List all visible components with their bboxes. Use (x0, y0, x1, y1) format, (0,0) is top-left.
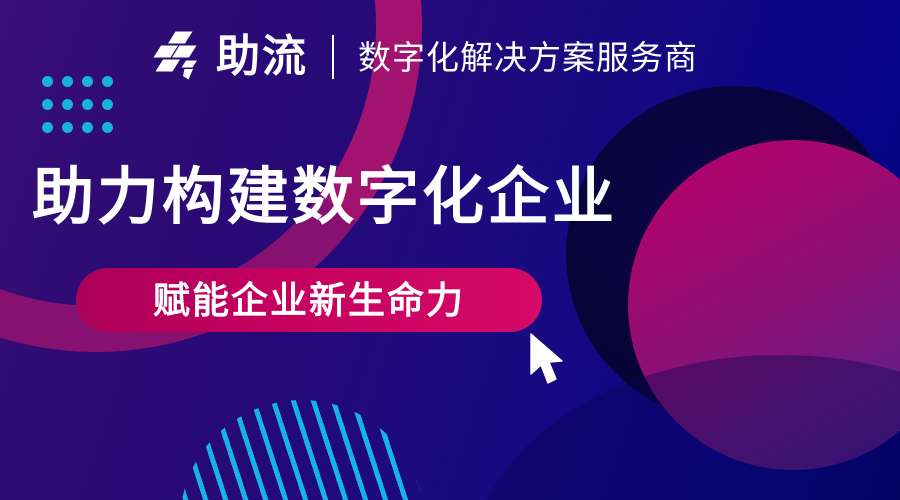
brand-header: 助流 数字化解决方案服务商 (150, 26, 698, 88)
magenta-circle-decoration (628, 140, 900, 470)
dot (102, 99, 113, 110)
dot (62, 99, 73, 110)
dot (102, 122, 113, 133)
dot (42, 99, 53, 110)
brand-tagline: 数字化解决方案服务商 (358, 41, 698, 74)
brand-name: 助流 (216, 35, 308, 79)
cyan-striped-circle-decoration (180, 400, 424, 500)
marketing-banner: 助流 数字化解决方案服务商 助力构建数字化企业 赋能企业新生命力 (0, 0, 900, 500)
dot (82, 99, 93, 110)
dot (62, 76, 73, 87)
tagline-pill-label: 赋能企业新生命力 (153, 282, 465, 319)
mouse-pointer-icon (528, 333, 568, 389)
dot (82, 76, 93, 87)
dot (42, 76, 53, 87)
header-divider (332, 35, 334, 79)
dot (42, 122, 53, 133)
cyan-dot-grid-decoration (42, 76, 122, 145)
dot (82, 122, 93, 133)
headline: 助力构建数字化企业 (32, 167, 617, 229)
navy-circle-decoration (566, 86, 900, 422)
dot (102, 76, 113, 87)
dot (62, 122, 73, 133)
tagline-pill-button[interactable]: 赋能企业新生命力 (76, 268, 542, 332)
lightning-bolt-logo-icon (150, 29, 206, 85)
